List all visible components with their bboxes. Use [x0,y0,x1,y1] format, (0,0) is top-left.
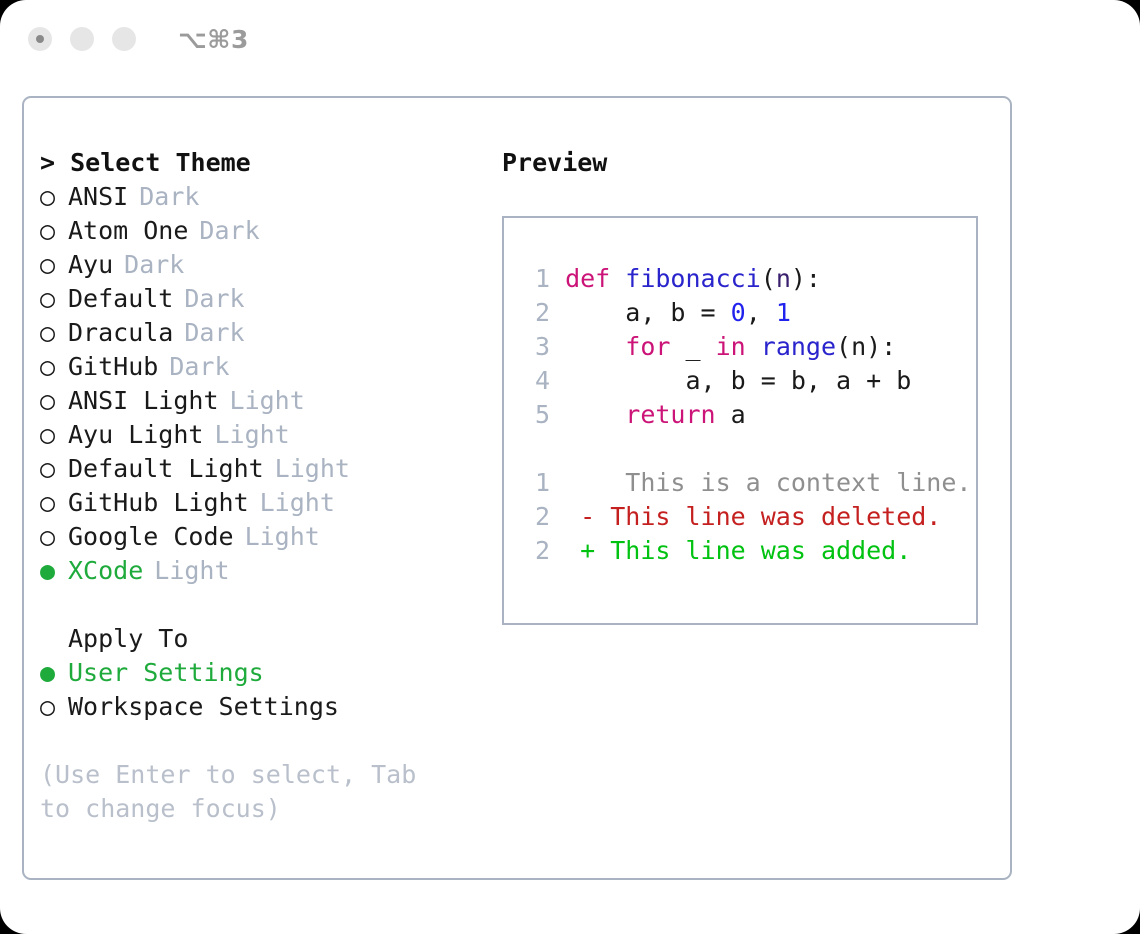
line-number: 4 [524,364,550,398]
window-dot-active-icon[interactable] [28,27,52,51]
apply-to-option-label: User Settings [68,656,264,690]
theme-option-dracula[interactable]: ○DraculaDark [40,316,490,350]
radio-unselected-icon: ○ [40,214,68,248]
theme-option-label: ANSI [68,180,128,214]
theme-option-list[interactable]: ○ANSIDark○Atom OneDark○AyuDark○DefaultDa… [40,180,490,588]
code-token-var: , [746,298,776,327]
preview-column: Preview 1 def fibonacci(n):2 a, b = 0, 1… [502,146,992,625]
code-token-var [565,332,625,361]
theme-option-label: Ayu [68,248,113,282]
line-number: 2 [524,296,550,330]
theme-option-label: Default Light [68,452,264,486]
code-token-par: n [776,264,791,293]
window-dot-third-icon[interactable] [112,27,136,51]
code-token-var: a, b = [565,298,731,327]
diff-sign [580,468,595,497]
theme-variant-tag: Light [234,520,320,554]
line-number: 5 [524,398,550,432]
line-number: 1 [524,262,550,296]
diff-sample: 1 This is a context line.2 - This line w… [524,466,976,568]
theme-option-xcode[interactable]: ●XCodeLight [40,554,490,588]
radio-unselected-icon: ○ [40,452,68,486]
window-dot-inner [36,35,44,43]
apply-to-option-user-settings[interactable]: ●User Settings [40,656,490,690]
diff-line: 1 This is a context line. [524,466,976,500]
preview-title: Preview [502,146,992,180]
code-token-fn: range [761,332,836,361]
theme-option-ansi-light[interactable]: ○ANSI LightLight [40,384,490,418]
diff-text: This is a context line. [595,468,971,497]
radio-unselected-icon: ○ [40,248,68,282]
line-number: 2 [524,534,550,568]
theme-option-github[interactable]: ○GitHubDark [40,350,490,384]
theme-variant-tag: Dark [158,350,229,384]
code-token-kw: in [716,332,746,361]
theme-option-github-light[interactable]: ○GitHub LightLight [40,486,490,520]
title-bar: ⌥⌘3 [0,0,1140,78]
theme-option-label: Dracula [68,316,173,350]
theme-option-label: Ayu Light [68,418,203,452]
radio-unselected-icon: ○ [40,690,68,724]
theme-option-label: Default [68,282,173,316]
theme-selector-column: > Select Theme ○ANSIDark○Atom OneDark○Ay… [40,146,490,826]
theme-option-atom-one[interactable]: ○Atom OneDark [40,214,490,248]
select-theme-heading: > Select Theme [40,146,490,180]
radio-unselected-icon: ○ [40,282,68,316]
diff-line: 2 + This line was added. [524,534,976,568]
code-token-fn: fibonacci [625,264,760,293]
code-line: 1 def fibonacci(n): [524,262,976,296]
theme-option-label: GitHub [68,350,158,384]
diff-sign: + [580,536,595,565]
theme-option-label: GitHub Light [68,486,249,520]
apply-to-option-label: Workspace Settings [68,690,339,724]
keyboard-hint-text: (Use Enter to select, Tab to change focu… [40,758,450,826]
apply-to-option-workspace-settings[interactable]: ○Workspace Settings [40,690,490,724]
code-preview-box: 1 def fibonacci(n):2 a, b = 0, 13 for _ … [502,216,978,625]
code-token-punct: ( [761,264,776,293]
apply-to-option-list[interactable]: ●User Settings○Workspace Settings [40,656,490,724]
app-window: ⌥⌘3 > Select Theme ○ANSIDark○Atom OneDar… [0,0,1140,934]
code-diff-spacer [524,432,976,466]
radio-unselected-icon: ○ [40,520,68,554]
theme-variant-tag: Light [249,486,335,520]
code-token-var [565,400,625,429]
code-line: 5 return a [524,398,976,432]
code-line: 3 for _ in range(n): [524,330,976,364]
theme-option-ansi[interactable]: ○ANSIDark [40,180,490,214]
apply-to-label: Apply To [40,622,490,656]
theme-variant-tag: Light [143,554,229,588]
diff-sign: - [580,502,595,531]
theme-option-label: Atom One [68,214,188,248]
code-token-var [746,332,761,361]
theme-option-google-code[interactable]: ○Google CodeLight [40,520,490,554]
radio-unselected-icon: ○ [40,350,68,384]
line-number: 2 [524,500,550,534]
theme-variant-tag: Dark [173,316,244,350]
code-line: 4 a, b = b, a + b [524,364,976,398]
code-token-var: a [716,400,746,429]
theme-variant-tag: Dark [128,180,199,214]
gutter-gap [550,366,565,395]
radio-unselected-icon: ○ [40,486,68,520]
theme-variant-tag: Light [264,452,350,486]
code-token-num: 1 [776,298,791,327]
theme-variant-tag: Dark [188,214,259,248]
keyboard-shortcut-label: ⌥⌘3 [178,25,249,54]
theme-variant-tag: Dark [173,282,244,316]
radio-unselected-icon: ○ [40,180,68,214]
diff-text: This line was added. [595,536,911,565]
radio-unselected-icon: ○ [40,316,68,350]
theme-option-default[interactable]: ○DefaultDark [40,282,490,316]
code-token-kw: for [625,332,670,361]
code-line: 2 a, b = 0, 1 [524,296,976,330]
code-token-num: 0 [731,298,746,327]
code-token-kw: def [565,264,610,293]
theme-variant-tag: Dark [113,248,184,282]
theme-option-default-light[interactable]: ○Default LightLight [40,452,490,486]
theme-option-label: ANSI Light [68,384,219,418]
radio-unselected-icon: ○ [40,384,68,418]
diff-text: This line was deleted. [595,502,941,531]
theme-variant-tag: Light [203,418,289,452]
window-dot-second-icon[interactable] [70,27,94,51]
code-token-var: _ [670,332,715,361]
window-controls [28,27,136,51]
theme-variant-tag: Light [219,384,305,418]
code-token-punct: (n): [836,332,896,361]
list-spacer [40,588,490,622]
code-token-kw: return [625,400,715,429]
code-token-punct [610,264,625,293]
gutter-gap [550,298,565,327]
hint-spacer [40,724,490,758]
gutter-gap [550,400,565,429]
radio-selected-icon: ● [40,656,68,690]
code-token-var: a, b = b, a + b [565,366,911,395]
diff-line: 2 - This line was deleted. [524,500,976,534]
theme-option-ayu[interactable]: ○AyuDark [40,248,490,282]
radio-unselected-icon: ○ [40,418,68,452]
line-number: 1 [524,466,550,500]
gutter-gap [550,536,580,565]
code-token-punct: ): [791,264,821,293]
gutter-gap [550,332,565,361]
code-sample: 1 def fibonacci(n):2 a, b = 0, 13 for _ … [524,262,976,432]
line-number: 3 [524,330,550,364]
main-panel: > Select Theme ○ANSIDark○Atom OneDark○Ay… [22,96,1012,880]
gutter-gap [550,502,580,531]
gutter-gap [550,468,580,497]
theme-option-label: XCode [68,554,143,588]
theme-option-label: Google Code [68,520,234,554]
radio-selected-icon: ● [40,554,68,588]
gutter-gap [550,264,565,293]
theme-option-ayu-light[interactable]: ○Ayu LightLight [40,418,490,452]
